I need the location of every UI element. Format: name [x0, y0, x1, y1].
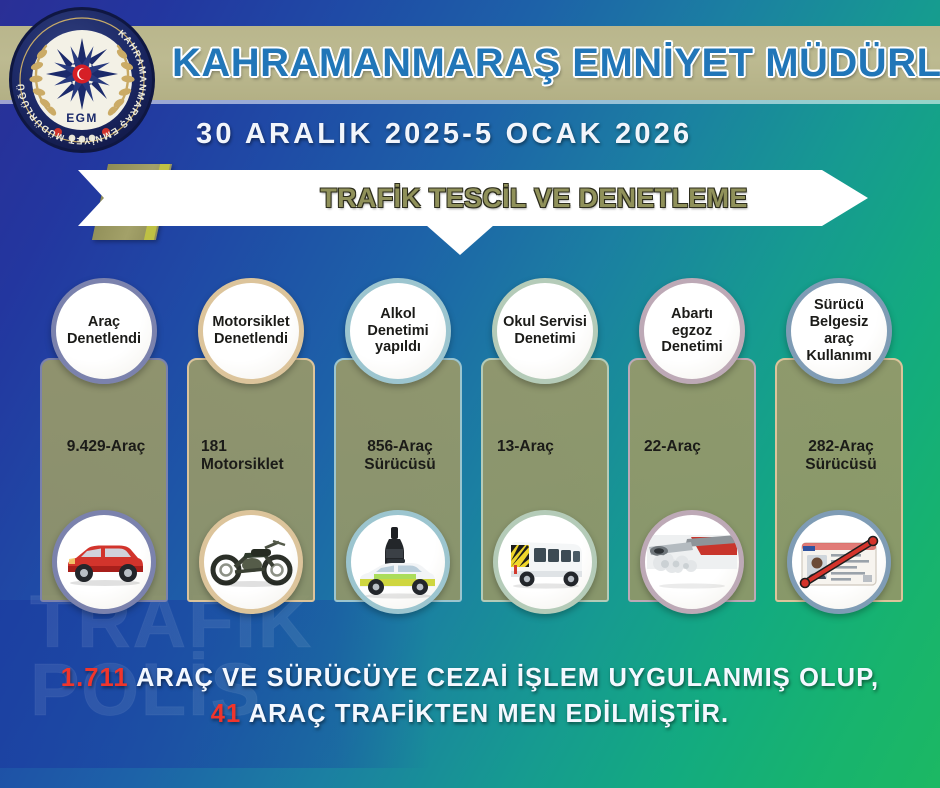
stat-column-alkol-denetimi[interactable]: 856-AraçSürücüsü AlkolDenetimiyapıldı: [330, 278, 466, 618]
stat-value: 181Motorsiklet: [195, 438, 311, 475]
stat-label-bubble: AbartıegzozDenetimi: [639, 278, 745, 384]
stat-label-bubble: Okul ServisiDenetimi: [492, 278, 598, 384]
stat-column-surucu-belgesiz-arac-kullanimi[interactable]: 282-AraçSürücüsü SürücüBelgesiz araçKull…: [771, 278, 907, 618]
drivers-license-crossed-icon: [796, 533, 882, 591]
stat-icon-bubble: [346, 510, 450, 614]
stat-label-bubble: AraçDenetlendi: [51, 278, 157, 384]
stat-label: SürücüBelgesiz araçKullanımı: [796, 297, 882, 364]
motorcycle-icon: [207, 536, 295, 588]
stat-label-bubble: SürücüBelgesiz araçKullanımı: [786, 278, 892, 384]
stat-column-abarti-egzoz-denetimi[interactable]: 22-Araç AbartıegzozDenetimi: [624, 278, 760, 618]
red-suv-car-icon: [61, 537, 147, 587]
stat-icon-bubble: [493, 510, 597, 614]
penalty-text: ARAÇ VE SÜRÜCÜYE CEZAİ İŞLEM UYGULANMIŞ …: [129, 664, 880, 692]
banned-count: 41: [211, 700, 242, 728]
stat-icon-bubble: [787, 510, 891, 614]
stat-label: AbartıegzozDenetimi: [661, 306, 722, 356]
stat-column-arac-denetlendi[interactable]: 9.429-Araç AraçDenetlendi: [36, 278, 172, 618]
stat-column-motorsiklet-denetlendi[interactable]: 181Motorsiklet MotorsikletDenetlendi: [183, 278, 319, 618]
stat-icon-bubble: [640, 510, 744, 614]
alcohol-bottle-police-car-icon: [354, 525, 442, 599]
date-range-label: 30 ARALIK 2025-5 OCAK 2026: [196, 118, 692, 151]
stat-label-bubble: AlkolDenetimiyapıldı: [345, 278, 451, 384]
stat-icon-bubble: [199, 510, 303, 614]
stat-value: 22-Araç: [636, 438, 752, 456]
stat-label: Okul ServisiDenetimi: [503, 314, 587, 348]
exhaust-pipe-smoke-icon: [647, 533, 737, 591]
banned-text: ARAÇ TRAFİKTEN MEN EDİLMİŞTİR.: [241, 700, 729, 728]
stat-label-bubble: MotorsikletDenetlendi: [198, 278, 304, 384]
stat-value: 9.429-Araç: [48, 438, 164, 456]
banner-pointer: [426, 225, 494, 255]
summary-statement: 1.711 ARAÇ VE SÜRÜCÜYE CEZAİ İŞLEM UYGUL…: [0, 660, 940, 732]
logo-abbreviation: EGM: [66, 111, 98, 125]
stat-column-okul-servisi-denetimi[interactable]: 13-Araç Okul ServisiDenetimi: [477, 278, 613, 618]
police-car-icon: [360, 559, 435, 595]
page-title: KAHRAMANMARAŞ EMNİYET MÜDÜRLÜĞÜ: [172, 32, 932, 94]
summary-line-2: 41 ARAÇ TRAFİKTEN MEN EDİLMİŞTİR.: [0, 696, 940, 732]
stat-value: 856-AraçSürücüsü: [342, 438, 458, 475]
section-title: TRAFİK TESCİL VE DENETLEME: [274, 170, 794, 226]
stat-label: MotorsikletDenetlendi: [212, 314, 289, 348]
summary-line-1: 1.711 ARAÇ VE SÜRÜCÜYE CEZAİ İŞLEM UYGUL…: [0, 660, 940, 696]
stat-icon-bubble: [52, 510, 156, 614]
infographic-poster: TRAFİKPOLİS KAHRAMANMARAŞ EMNİYET MÜDÜRL…: [0, 0, 940, 788]
stats-row: 9.429-Araç AraçDenetlendi: [36, 278, 908, 618]
school-minibus-icon: [501, 535, 589, 589]
stat-label: AlkolDenetimiyapıldı: [367, 306, 428, 356]
stat-value: 13-Araç: [489, 438, 605, 456]
police-emblem-icon: EGM KAHRAMANMARAŞ EMNİYET MÜDÜRLÜĞÜ: [6, 4, 158, 156]
stat-value: 282-AraçSürücüsü: [783, 438, 899, 475]
penalty-count: 1.711: [61, 664, 129, 692]
stat-label: AraçDenetlendi: [67, 314, 141, 348]
section-banner: TRAFİK TESCİL VE DENETLEME: [78, 170, 868, 248]
